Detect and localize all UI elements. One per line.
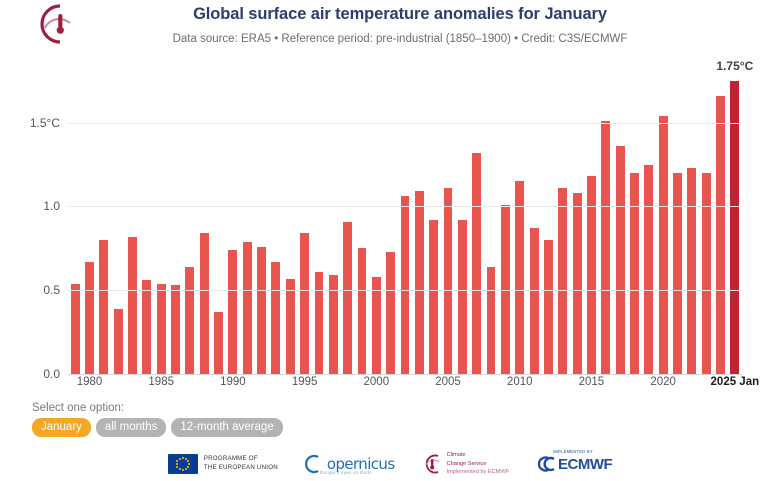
x-axis-tick-label: 1990: [220, 376, 246, 388]
x-axis-tick-label: 2025 Jan: [711, 376, 760, 388]
bar: [702, 173, 711, 374]
bar: [415, 191, 424, 374]
copernicus-thermometer-logo: [30, 2, 82, 46]
copernicus-tagline: Europe's eyes on Earth: [320, 470, 372, 475]
gridline: [68, 290, 742, 291]
bar: [659, 116, 668, 374]
c3s-thermometer-icon: [421, 453, 443, 475]
bar: [243, 242, 252, 374]
bar: [558, 188, 567, 374]
eu-logo-text: PROGRAMME OF THE EUROPEAN UNION: [204, 455, 278, 473]
bar: [673, 173, 682, 374]
bar: [544, 240, 553, 374]
x-axis-tick-label: 2005: [435, 376, 461, 388]
plot-area: 0.00.51.01.5°C19801985199019952000200520…: [68, 64, 742, 374]
option-pill-all-months[interactable]: all months: [96, 418, 166, 437]
option-pill-january[interactable]: January: [32, 418, 91, 437]
eu-star-icon: [182, 457, 184, 459]
eu-logo: PROGRAMME OF THE EUROPEAN UNION: [168, 454, 278, 474]
bar: [716, 96, 725, 374]
bar: [530, 228, 539, 374]
bar: [616, 146, 625, 374]
x-axis-tick-label: 1995: [292, 376, 318, 388]
eu-flag-icon: [168, 454, 198, 474]
ecmwf-wordmark: ECMWF: [558, 456, 612, 473]
bar: [358, 248, 367, 374]
bar: [99, 240, 108, 374]
bar: [458, 220, 467, 374]
eu-logo-line2: THE EUROPEAN UNION: [204, 464, 278, 473]
eu-star-icon: [187, 466, 189, 468]
chart-header: Global surface air temperature anomalies…: [0, 0, 780, 56]
eu-star-icon: [179, 468, 181, 470]
bar: [214, 312, 223, 374]
ecmwf-implemented-by: IMPLEMENTED BY: [553, 449, 593, 454]
bar-series: [68, 64, 742, 374]
copernicus-c-icon: [304, 453, 321, 475]
bar: [85, 262, 94, 374]
bar: [71, 284, 80, 374]
eu-star-icon: [188, 463, 190, 465]
ecmwf-mark-icon: [535, 455, 555, 473]
bar: [142, 280, 151, 374]
gridline: [68, 123, 742, 124]
bar: [128, 237, 137, 374]
option-selector: Select one option: Januaryall months12-m…: [32, 402, 283, 437]
bar: [429, 220, 438, 374]
bar: [257, 247, 266, 374]
eu-star-icon: [182, 469, 184, 471]
copernicus-logo: opernicus Europe's eyes on Earth: [304, 452, 395, 476]
y-axis-tick-label: 1.5°C: [0, 116, 60, 130]
chart-subtitle: Data source: ERA5 • Reference period: pr…: [90, 33, 710, 45]
x-axis-tick-label: 2010: [507, 376, 533, 388]
bar: [487, 267, 496, 374]
x-axis-tick-label: 2020: [650, 376, 676, 388]
c3s-line2: Change Service: [447, 460, 509, 468]
bar: [687, 168, 696, 374]
eu-star-icon: [176, 460, 178, 462]
option-pill-12-month-average[interactable]: 12-month average: [171, 418, 282, 437]
bar: [601, 121, 610, 374]
x-axis-tick-label: 1985: [148, 376, 174, 388]
footer-logos: PROGRAMME OF THE EUROPEAN UNION opernicu…: [0, 447, 780, 481]
gridline: [68, 374, 742, 375]
page-title: Global surface air temperature anomalies…: [90, 5, 710, 24]
option-pill-group: Januaryall months12-month average: [32, 418, 283, 437]
bar: [300, 233, 309, 374]
temperature-anomaly-bar-chart: 0.00.51.01.5°C19801985199019952000200520…: [0, 56, 780, 396]
x-axis-tick-label: 2000: [364, 376, 390, 388]
bar: [271, 262, 280, 374]
bar: [200, 233, 209, 374]
bar: [286, 279, 295, 375]
eu-star-icon: [179, 458, 181, 460]
bar: [185, 267, 194, 374]
bar: [114, 309, 123, 374]
bar: [171, 285, 180, 374]
x-axis-tick-label: 2015: [579, 376, 605, 388]
c3s-line1: Climate: [447, 451, 509, 459]
bar: [401, 196, 410, 374]
c3s-logo: Climate Change Service Implemented by EC…: [421, 451, 509, 476]
bar: [343, 222, 352, 374]
eu-logo-line1: PROGRAMME OF: [204, 455, 278, 464]
bar: [730, 81, 739, 374]
bar: [157, 284, 166, 374]
bar: [472, 153, 481, 374]
bar: [315, 272, 324, 374]
y-axis-tick-label: 0.0: [0, 367, 60, 381]
bar: [228, 250, 237, 374]
bar: [372, 277, 381, 374]
c3s-line3: Implemented by ECMWF: [447, 468, 509, 476]
option-selector-label: Select one option:: [32, 402, 283, 414]
bar: [515, 181, 524, 374]
peak-value-annotation: 1.75°C: [716, 59, 753, 73]
bar: [630, 173, 639, 374]
eu-star-icon: [176, 463, 178, 465]
x-axis-tick-label: 1980: [77, 376, 103, 388]
bar: [444, 188, 453, 374]
bar: [644, 165, 653, 374]
gridline: [68, 206, 742, 207]
eu-star-icon: [187, 460, 189, 462]
c3s-logo-text: Climate Change Service Implemented by EC…: [447, 451, 509, 476]
y-axis-tick-label: 0.5: [0, 283, 60, 297]
ecmwf-logo: ECMWF IMPLEMENTED BY: [535, 455, 612, 473]
bar: [386, 252, 395, 374]
eu-star-icon: [185, 468, 187, 470]
bar: [573, 193, 582, 374]
y-axis-tick-label: 1.0: [0, 199, 60, 213]
